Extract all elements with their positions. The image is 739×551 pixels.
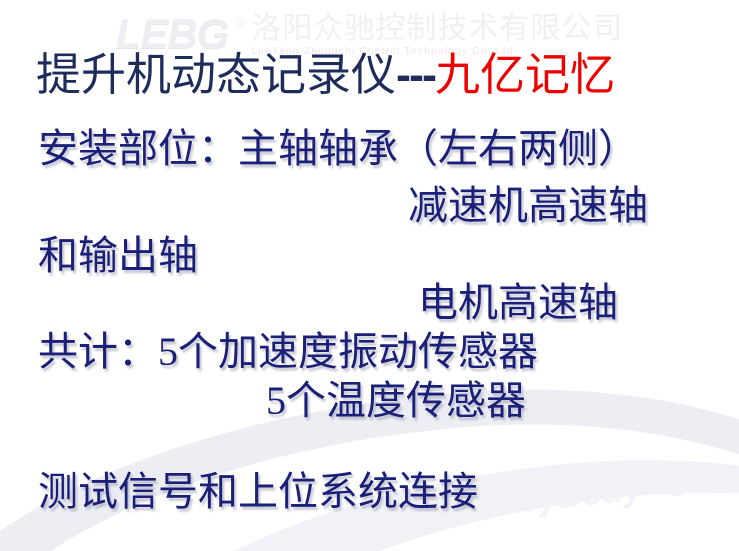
slide-title-accent: 九亿记忆 (435, 50, 615, 100)
body-line-total-temperature-sensors: 5个温度传感器 (266, 381, 526, 421)
slide-title-separator: --- (396, 49, 435, 100)
slide-content: 提升机动态记录仪---九亿记忆 安装部位：主轴轴承（左右两侧） 减速机高速轴 和… (0, 0, 739, 551)
presentation-slide: LEBG ® 洛阳众驰控制技术有限公司 LuoYang Zhongchi Con… (0, 0, 739, 551)
slide-title: 提升机动态记录仪---九亿记忆 (36, 52, 615, 98)
body-line-install-location: 安装部位：主轴轴承（左右两侧） (38, 129, 638, 169)
body-line-total-vibration-sensors: 共计：5个加速度振动传感器 (38, 332, 538, 372)
body-line-reducer-high-speed-shaft: 减速机高速轴 (408, 186, 648, 226)
body-line-signal-connection: 测试信号和上位系统连接 (38, 472, 478, 512)
body-line-output-shaft: 和输出轴 (38, 236, 198, 276)
slide-title-prefix: 提升机动态记录仪 (36, 50, 396, 100)
body-line-motor-high-speed-shaft: 电机高速轴 (418, 283, 618, 323)
